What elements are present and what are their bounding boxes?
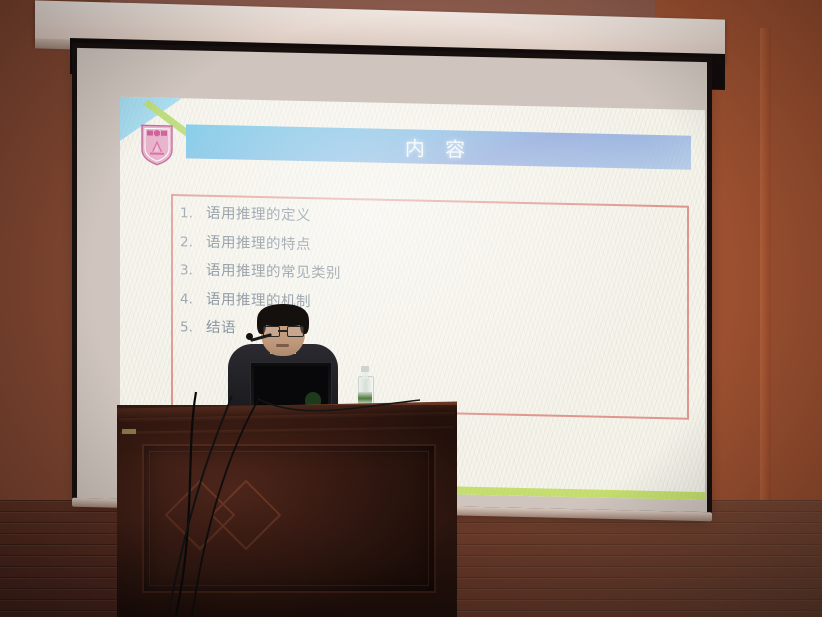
bottle-cap [361, 366, 369, 372]
list-item-label: 语用推理的常见类别 [206, 264, 341, 282]
slide-title: 内 容 [405, 132, 472, 163]
presenter-mouth [276, 344, 289, 347]
lectern-brass-plate [122, 429, 136, 434]
microphone-head-icon [246, 333, 253, 340]
list-item-number: 3. [180, 264, 206, 278]
list-item-number: 4. [180, 293, 206, 307]
list-item-label: 语用推理的特点 [206, 235, 311, 252]
list-item-number: 1. [180, 207, 206, 221]
list-item-number: 5. [180, 321, 206, 335]
slide-title-bar: 内 容 [186, 124, 691, 169]
glasses-lens-right-icon [287, 326, 304, 337]
list-item: 3. 语用推理的常见类别 [180, 263, 675, 289]
list-item-label: 语用推理的定义 [206, 207, 311, 224]
wall-divider-post [760, 28, 771, 508]
university-crest-logo [140, 123, 174, 166]
list-item: 2. 语用推理的特点 [180, 235, 675, 261]
lecture-hall-scene: 内 容 1. 语用推理的定义 2. 语用推理的特点 3. 语用推理的常见类别 [0, 0, 822, 617]
list-item-number: 2. [180, 236, 206, 250]
glasses-bridge-icon [278, 330, 287, 332]
